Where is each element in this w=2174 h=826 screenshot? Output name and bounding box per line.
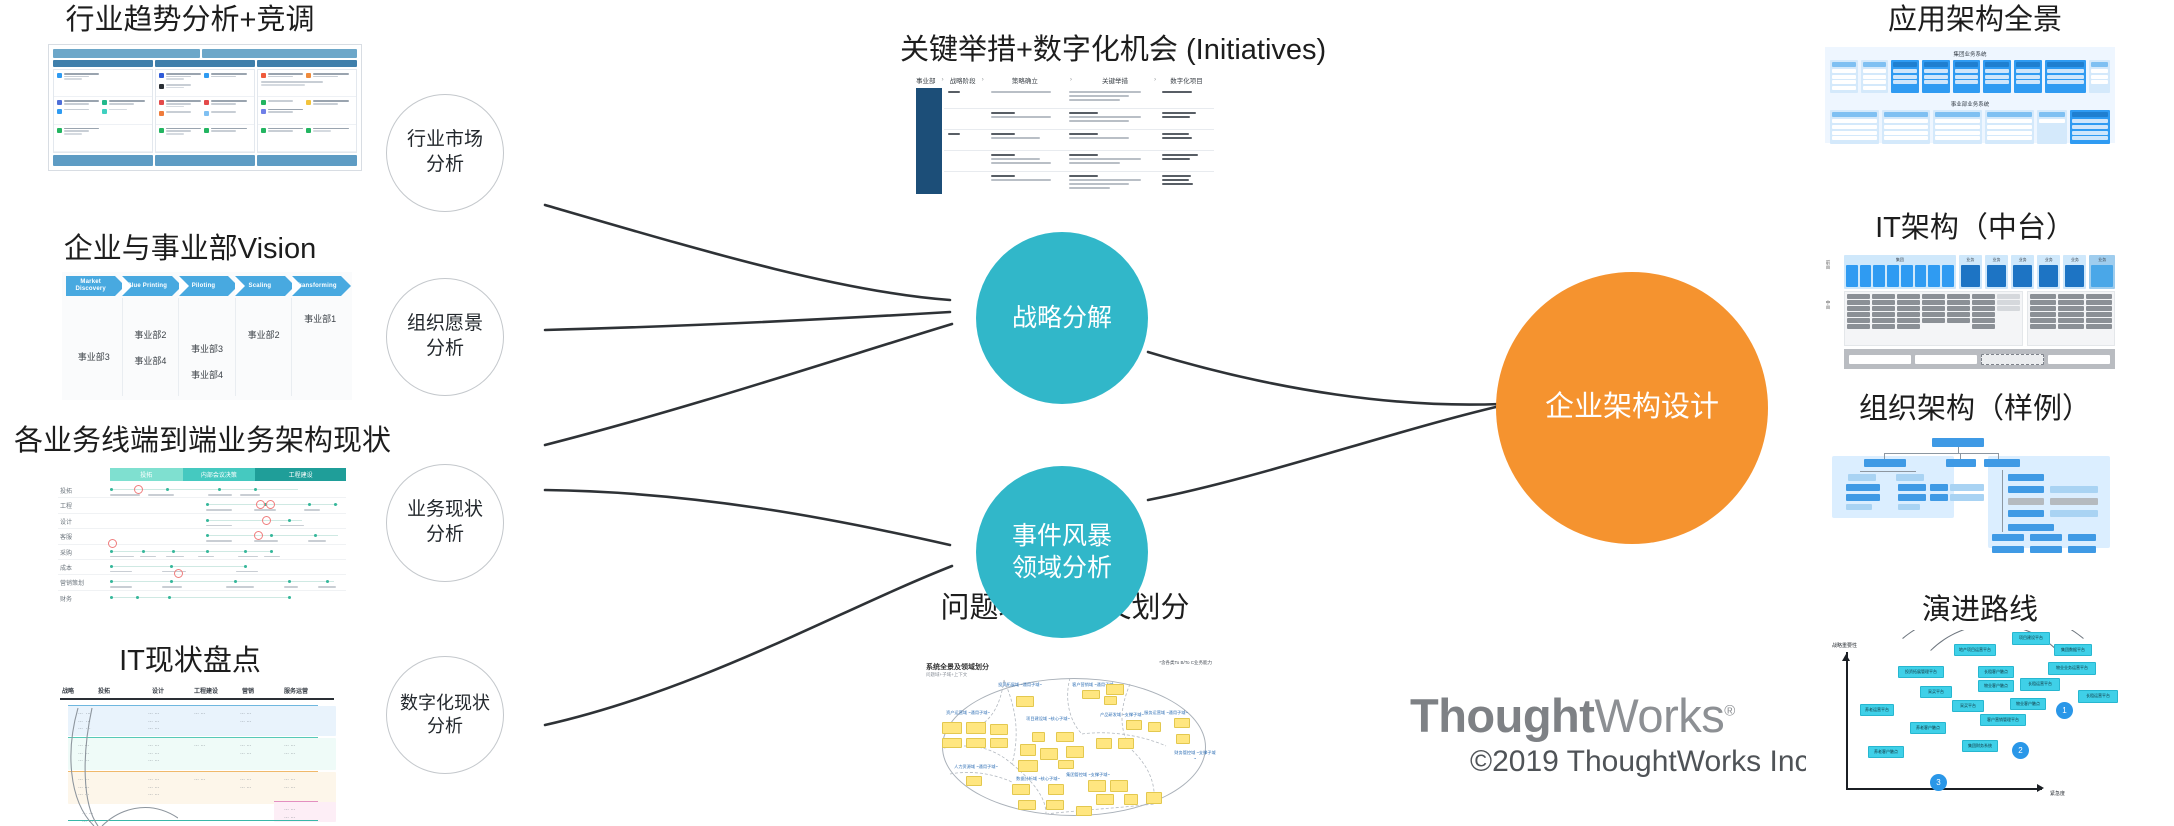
thumbnail-org-chart (1820, 430, 2120, 580)
org-node-leaf (1846, 494, 1880, 501)
swimlane-row: 设计 (58, 514, 346, 529)
it-col-header: 营销 (242, 686, 254, 695)
it-arch-group: 业务 (2089, 255, 2115, 289)
org-node-leaf (1846, 484, 1880, 491)
sticky-note (1124, 794, 1138, 805)
thumbnail-app-architecture: 集团业务系统 事业部业务系统 (1820, 42, 2120, 148)
app-arch-row (1825, 60, 2115, 97)
vision-stage-row: Market Discovery Blue Printing Piloting … (66, 276, 348, 296)
roadmap-priority-2[interactable]: 2 (2012, 742, 2029, 759)
sticky-note (1048, 784, 1064, 795)
initiatives-row (944, 130, 1214, 151)
org-node-note (2050, 486, 2098, 493)
panel-title-business-architecture: 各业务线端到端业务架构现状 (14, 425, 374, 458)
outcome-circle-label: 企业架构设计 (1545, 389, 1719, 427)
comp-subheader-cell (257, 60, 357, 67)
thumbnail-roadmap-scatter: 战略重要性 紧急度 项目建设平台 集团数据平台 地产项目运营平台 物业业务运营平… (1806, 630, 2172, 826)
swimlane-phase: 投拓 (110, 468, 183, 481)
vision-stage: Blue Printing (122, 276, 171, 296)
context-label: 产品研发域 ~支撑子域~ (1100, 712, 1144, 718)
app-arch-box (1882, 110, 1931, 143)
it-arch-group-label: 业务 (2013, 257, 2032, 263)
tech-platform-item (1981, 354, 2045, 365)
synthesis-circle-line2: 领域分析 (1012, 554, 1112, 582)
org-node-leaf (1848, 474, 1876, 481)
org-node-branch (1946, 459, 1976, 467)
vision-cell: 事业部2 (123, 328, 179, 341)
panel-title-app-architecture: 应用架构全景 (1850, 4, 2100, 37)
app-arch-box (1861, 60, 1889, 93)
org-node-leaf (1930, 494, 1948, 501)
comp-cell (258, 125, 356, 152)
app-arch-side-box (2089, 60, 2110, 93)
org-node-note (2050, 498, 2098, 505)
sticky-note (1176, 734, 1190, 744)
sticky-note (1018, 760, 1038, 772)
roadmap-item[interactable]: 物业客户触点 (2010, 698, 2046, 710)
sticky-note (1096, 738, 1112, 749)
app-arch-box (1933, 110, 1982, 143)
tech-platform-item (1915, 355, 1977, 364)
roadmap-item[interactable]: 采买平台 (1952, 700, 1984, 712)
swimlane-row-label: 成本 (60, 563, 72, 572)
roadmap-item[interactable]: 集团数据平台 (2054, 644, 2092, 656)
sticky-note (942, 738, 962, 748)
thumbnail-it-inventory: 战略 投拓 设计 工程建设 营销 服务运营 … …… …… … … …… …… … (52, 682, 342, 826)
roadmap-item[interactable]: 养老客户触点 (1868, 746, 1904, 758)
roadmap-item[interactable]: 物业客户触点 (1978, 680, 2014, 692)
swimlane-phase: 内部会议决策 (183, 468, 256, 481)
vision-cell: 事业部1 (292, 312, 348, 325)
sticky-note (966, 776, 982, 786)
org-node-leaf (1898, 494, 1926, 501)
org-node-leaf (1992, 534, 2024, 541)
vision-column: 事业部2 事业部4 (123, 298, 180, 396)
tech-platform-item (1849, 355, 1911, 364)
analysis-circle-line1: 业务现状 (407, 499, 483, 520)
org-node-leaf (2008, 474, 2044, 481)
logo-light-part: Works (1594, 689, 1724, 742)
roadmap-item[interactable]: 项目建设平台 (2012, 632, 2050, 645)
sticky-note (1032, 732, 1045, 742)
tech-platform-item (2048, 355, 2110, 364)
sticky-note (966, 722, 986, 734)
it-col-header: 设计 (152, 686, 164, 695)
swimlane-row-label: 投拓 (60, 486, 72, 495)
analysis-circle-digital[interactable]: 数字化现状 分析 (386, 656, 504, 774)
swimlane-phase: 工程建设 (255, 468, 346, 481)
comp-subheader-cell (155, 60, 255, 67)
swimlane-row: 客服 (58, 529, 346, 544)
comp-cell (156, 70, 254, 97)
comp-footer-cell (257, 155, 357, 166)
initiatives-col-header: 事业部 (916, 75, 936, 85)
swimlane-row: 工程 (58, 498, 346, 513)
app-arch-box (2045, 60, 2087, 93)
it-arch-group: 业务 (2011, 255, 2034, 289)
initiatives-rows (944, 88, 1214, 194)
it-arch-group-label: 业务 (1961, 257, 1980, 263)
sticky-note (1076, 806, 1092, 816)
vision-stage: Piloting (179, 276, 228, 296)
context-label: 人力资源域 ~通用子域~ (954, 764, 998, 770)
org-node-leaf (1992, 546, 2024, 553)
app-arch-box (1953, 60, 1981, 93)
it-arch-group: 业务 (1959, 255, 1982, 289)
sticky-note (1174, 718, 1190, 728)
org-node-leaf (1930, 484, 1948, 491)
synthesis-circle-line1: 事件风暴 (1012, 522, 1112, 550)
it-arch-group-label: 业务 (2091, 257, 2113, 263)
swimlane-row-label: 设计 (60, 517, 72, 526)
swimlane-row-label: 客服 (60, 532, 72, 541)
comp-footer-cell (155, 155, 255, 166)
swimlane-row: 营销策划 (58, 575, 346, 590)
initiatives-side-label (916, 88, 942, 194)
app-arch-box (1830, 110, 1879, 143)
analysis-circle-line2: 分析 (426, 524, 464, 545)
sticky-note (1082, 690, 1100, 699)
app-arch-canvas: 集团业务系统 事业部业务系统 (1825, 47, 2115, 143)
org-node-leaf (1898, 504, 1920, 510)
org-node-note (2050, 510, 2098, 517)
sticky-note (1058, 760, 1074, 769)
thoughtworks-logo: ThoughtWorks® (1410, 688, 1735, 743)
initiatives-header: 事业部 › 战略阶段 › 策略确立 › 关键举措 › 数字化项目 (916, 73, 1214, 86)
panel-title-org-chart: 组织架构（样例） (1850, 393, 2100, 426)
sticky-note (1018, 800, 1036, 810)
initiatives-col-header: 关键举措 (1102, 75, 1128, 85)
analysis-circle-line1: 组织愿景 (407, 313, 483, 334)
vision-column: 事业部1 (292, 298, 348, 396)
comp-cell (258, 70, 356, 97)
initiatives-row (944, 88, 1214, 109)
it-col-header: 服务运营 (284, 686, 308, 695)
it-arch-group: 业务 (2063, 255, 2086, 289)
event-storming-note: *含各类To B/To C业务能力 (1159, 660, 1212, 666)
it-arch-group: 业务 (2037, 255, 2060, 289)
vision-stage: Market Discovery (66, 276, 115, 296)
vision-stage: Scaling (235, 276, 284, 296)
vision-cell: 事业部4 (179, 368, 235, 381)
roadmap-item[interactable]: 客户营销管理平台 (1980, 714, 2026, 726)
initiatives-row (944, 172, 1214, 194)
it-arch-group-label: 集团 (1846, 257, 1954, 263)
roadmap-item[interactable]: 投资拓展管理平台 (1898, 666, 1944, 678)
sticky-note (1066, 746, 1084, 758)
sticky-note (942, 722, 962, 734)
it-arch-group: 业务 (1985, 255, 2008, 289)
it-col-header: 工程建设 (194, 686, 218, 695)
copyright-notice: ©2019 ThoughtWorks Inc. (1470, 745, 1818, 779)
sticky-note (1088, 780, 1106, 792)
org-node-leaf (1846, 504, 1872, 510)
swimlane-row: 成本 (58, 560, 346, 575)
org-node-leaf (2068, 534, 2096, 541)
sticky-note (1012, 784, 1030, 795)
comp-header-cell (53, 49, 200, 58)
org-node-leaf (2030, 534, 2062, 541)
context-label: 项目建设域 ~核心子域~ (1026, 716, 1070, 722)
sticky-note (1118, 738, 1134, 749)
vision-column: 事业部3 (66, 298, 123, 396)
vision-cell: 事业部2 (236, 328, 292, 341)
org-node-root (1932, 438, 1984, 447)
it-arch-row-label: 前台 (1825, 260, 1831, 286)
vision-cell: 事业部3 (179, 342, 235, 355)
app-arch-box (1830, 60, 1858, 93)
vision-column: 事业部2 (236, 298, 293, 396)
comp-cell (54, 97, 152, 124)
app-arch-row (1825, 110, 2115, 147)
roadmap-item[interactable]: 长租运营平台 (2078, 690, 2118, 703)
app-arch-box (2037, 110, 2068, 143)
swimlane-row: 投拓 (58, 483, 346, 498)
comp-column (257, 69, 357, 153)
roadmap-x-axis-label: 紧急度 (2050, 790, 2065, 797)
app-arch-box (1891, 60, 1919, 93)
sticky-note (1106, 684, 1124, 695)
analysis-circle-market[interactable]: 行业市场 分析 (386, 94, 504, 212)
sticky-note (966, 738, 986, 748)
it-arch-mid-row (1844, 291, 2115, 346)
comp-cell (258, 97, 356, 124)
app-arch-section-title: 集团业务系统 (1825, 47, 2115, 60)
event-storming-heading: 系统全景及领域划分 (926, 662, 989, 672)
roadmap-item[interactable]: 养老客户触点 (1910, 722, 1946, 734)
comp-footer-cell (53, 155, 153, 166)
vision-cell: 事业部3 (66, 350, 122, 363)
panel-title-it-inventory: IT现状盘点 (60, 645, 320, 678)
synthesis-circle-strategy-decomposition[interactable]: 战略分解 (976, 232, 1148, 404)
sticky-note (1096, 794, 1114, 805)
app-arch-box (2014, 60, 2042, 93)
org-node-leaf (1896, 474, 1924, 481)
registered-mark: ® (1724, 702, 1735, 719)
context-label: 财务管控域 ~支撑子域~ (1174, 750, 1216, 761)
thumbnail-competitor-landscape (48, 44, 362, 171)
vision-cell: 事业部4 (123, 354, 179, 367)
it-arch-row-label: 中台 (1825, 300, 1831, 336)
roadmap-item[interactable]: 集团财务系统 (1962, 740, 1998, 752)
swimlane-row-label: 工程 (60, 501, 72, 510)
org-node-leaf (2008, 524, 2054, 531)
synthesis-circle-event-storming[interactable]: 事件风暴 领域分析 (976, 466, 1148, 638)
context-label: 资产运营域 ~通用子域~ (946, 710, 990, 716)
sticky-note (1056, 732, 1074, 742)
org-node-branch (1864, 459, 1906, 467)
analysis-circle-line1: 行业市场 (407, 129, 483, 150)
org-node-branch (1984, 459, 2020, 467)
sticky-note (1148, 722, 1161, 732)
it-arch-group-label: 业务 (1987, 257, 2006, 263)
analysis-circle-line1: 数字化现状 (400, 693, 490, 713)
slide-canvas: 行业趋势分析+竞调 (0, 0, 2174, 826)
panel-title-initiatives: 关键举措+数字化机会 (Initiatives) (900, 34, 1320, 67)
org-node-leaf (2008, 510, 2044, 517)
swimlane-row: 财务 (58, 591, 346, 602)
thumbnail-business-swimlane: 投拓 内部会议决策 工程建设 投拓 工程 (52, 464, 352, 602)
org-node-leaf (1898, 484, 1926, 491)
it-arch-group-label: 业务 (2039, 257, 2058, 263)
roadmap-y-axis-label: 战略重要性 (1832, 642, 1857, 649)
context-label: 数据分析域 ~核心子域~ (1016, 776, 1060, 782)
sticky-note (1146, 792, 1162, 804)
app-arch-section-title: 事业部业务系统 (1825, 97, 2115, 110)
initiatives-col-header: 数字化项目 (1170, 75, 1203, 85)
thumbnail-event-storming: 系统全景及领域划分 问题域+子域+上下文 *含各类To B/To C业务能力 投… (920, 652, 1220, 826)
roadmap-item[interactable]: 长租运营平台 (2020, 678, 2060, 691)
synthesis-circle-line1: 战略分解 (1012, 304, 1112, 332)
app-arch-box (1983, 60, 2011, 93)
swimlane-rows: 投拓 工程 设计 (58, 483, 346, 598)
sticky-note (1110, 780, 1128, 792)
comp-header-cell (202, 49, 357, 58)
roadmap-item[interactable]: 物业业务运营平台 (2048, 662, 2096, 675)
it-col-header: 战略 (62, 686, 74, 695)
it-col-header: 投拓 (98, 686, 110, 695)
comp-subheader-cell (53, 60, 153, 67)
context-label: 集团管控域 ~支撑子域~ (1066, 772, 1110, 778)
roadmap-item[interactable]: 采买平台 (1920, 686, 1952, 698)
thumbnail-vision-stages: Market Discovery Blue Printing Piloting … (62, 272, 352, 400)
roadmap-item[interactable]: 养老运营平台 (1860, 704, 1894, 716)
panel-title-industry-trend: 行业趋势分析+竞调 (40, 4, 340, 37)
it-inventory-curves (58, 700, 178, 826)
comp-cell (54, 70, 152, 97)
org-node-leaf (2008, 498, 2044, 505)
org-node-note (1950, 484, 1984, 491)
initiatives-row (944, 151, 1214, 172)
org-node-note (1950, 494, 1984, 501)
analysis-circle-line2: 分析 (426, 154, 464, 175)
it-arch-platform-business (1844, 291, 2023, 346)
it-arch-tech-platform (1844, 349, 2115, 369)
thumbnail-initiatives-table: 事业部 › 战略阶段 › 策略确立 › 关键举措 › 数字化项目 (910, 70, 1220, 200)
analysis-circle-line2: 分析 (427, 716, 463, 736)
org-node-leaf (2030, 546, 2062, 553)
roadmap-priority-3[interactable]: 3 (1930, 774, 1947, 791)
it-arch-group-label: 业务 (2065, 257, 2084, 263)
sticky-note (1020, 744, 1036, 756)
initiatives-col-header: 策略确立 (1012, 75, 1038, 85)
sticky-note (1046, 800, 1064, 810)
app-arch-box (1985, 110, 2034, 143)
comp-column (53, 69, 153, 153)
initiatives-col-header: 战略阶段 (950, 75, 976, 85)
thumbnail-it-architecture: 前台 中台 集团 业务 业务 业务 业务 (1820, 250, 2120, 378)
panel-title-vision: 企业与事业部Vision (40, 233, 340, 266)
org-node-leaf (2068, 546, 2096, 553)
swimlane-row: 采购 (58, 545, 346, 560)
it-arch-platform-data (2027, 291, 2115, 346)
vision-column: 事业部3 事业部4 (179, 298, 236, 396)
it-arch-group: 集团 (1844, 255, 1956, 289)
sticky-note (1104, 696, 1117, 705)
vision-stage: Transforming (292, 276, 341, 296)
swimlane-row-label: 营销策划 (60, 578, 84, 587)
analysis-circle-line2: 分析 (426, 338, 464, 359)
comp-cell (156, 97, 254, 124)
sticky-note (990, 724, 1008, 735)
vision-grid: 事业部3 事业部2 事业部4 事业部3 事业部4 事业部2 事业部1 (66, 298, 348, 396)
swimlane-phase-row: 投拓 内部会议决策 工程建设 (110, 468, 346, 481)
roadmap-item[interactable]: 长租客户触点 (1978, 666, 2014, 678)
sticky-note (990, 738, 1008, 748)
panel-title-it-architecture: IT架构（中台） (1850, 212, 2100, 245)
analysis-circle-business[interactable]: 业务现状 分析 (386, 464, 504, 582)
org-node-leaf (2008, 486, 2044, 493)
it-arch-top-row: 集团 业务 业务 业务 业务 业务 (1844, 255, 2115, 289)
app-arch-box (1922, 60, 1950, 93)
sticky-note (1040, 748, 1058, 760)
panel-title-roadmap: 演进路线 (1870, 594, 2090, 627)
context-label: 投资拓展域 ~通用子域~ (998, 682, 1042, 688)
context-label: 服务运营域 ~通用子域~ (1144, 710, 1188, 716)
sticky-note (1126, 720, 1142, 730)
logo-bold-part: Thought (1410, 689, 1594, 742)
comp-column (155, 69, 255, 153)
app-arch-box (2070, 110, 2110, 143)
outcome-circle-enterprise-architecture[interactable]: 企业架构设计 (1496, 272, 1768, 544)
sticky-note (1016, 696, 1034, 707)
roadmap-priority-1[interactable]: 1 (2056, 702, 2073, 719)
comp-cell (54, 125, 152, 152)
swimlane-row-label: 财务 (60, 594, 72, 602)
roadmap-item[interactable]: 地产项目运营平台 (1954, 644, 1996, 656)
analysis-circle-vision[interactable]: 组织愿景 分析 (386, 278, 504, 396)
swimlane-row-label: 采购 (60, 548, 72, 557)
initiatives-row (944, 109, 1214, 130)
comp-cell (156, 125, 254, 152)
